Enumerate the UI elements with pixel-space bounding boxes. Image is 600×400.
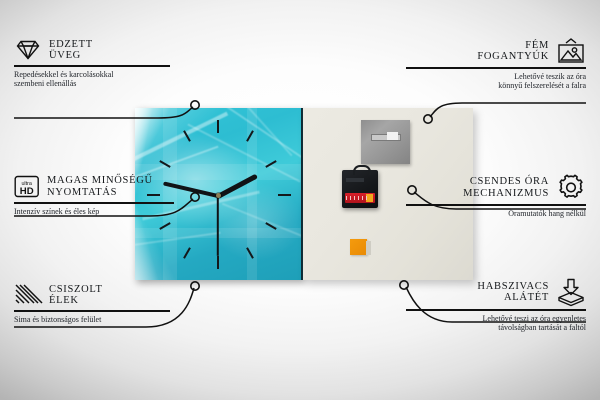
callout-description: Óramutatók hang nélkül [406, 209, 586, 219]
clock-tick [217, 120, 219, 133]
callout-divider [406, 204, 586, 206]
callout-divider [406, 309, 586, 311]
framed-picture-hanger-icon [556, 38, 586, 64]
callout-title: HABSZIVACS ALÁTÉT [477, 281, 549, 304]
callout-high-quality-print: ultra HD MAGAS MINŐSÉGŰ NYOMTATÁS Intenz… [14, 174, 174, 216]
connector-endpoint-edges [191, 282, 199, 290]
battery-label-lines [346, 196, 368, 200]
callout-header: HABSZIVACS ALÁTÉT [406, 278, 586, 306]
callout-title: CSISZOLT ÉLEK [49, 284, 103, 307]
badge-large-text: HD [20, 186, 34, 197]
gear-icon [556, 174, 586, 201]
clock-tick [278, 194, 291, 196]
callout-divider [14, 202, 174, 204]
callout-header: CSENDES ÓRA MECHANIZMUS [406, 174, 586, 201]
foam-pad-square [350, 239, 367, 255]
callout-metal-handles: FÉM FOGANTYÚK Lehetővé teszik az óra kön… [406, 38, 586, 91]
callout-silent-mechanism: CSENDES ÓRA MECHANIZMUS Óramutatók hang … [406, 174, 586, 218]
callout-description: Lehetővé teszi az óra egyenletes távolsá… [406, 314, 586, 333]
clock-center-cap [216, 193, 221, 198]
feather-streak [221, 108, 292, 156]
diamond-icon [14, 38, 42, 62]
callout-foam-pad: HABSZIVACS ALÁTÉT Lehetővé teszi az óra … [406, 278, 586, 333]
clock-tick [217, 256, 219, 269]
arrow-onto-pad-icon [556, 278, 586, 306]
mechanism-slot [346, 178, 364, 182]
callout-divider [14, 65, 170, 67]
callout-divider [406, 67, 586, 69]
callout-tempered-glass: EDZETT ÜVEG Repedésekkel és karcolásokka… [14, 38, 170, 89]
clock-tick [183, 247, 191, 258]
callout-description: Repedésekkel és karcolásokkal szembeni e… [14, 70, 170, 89]
callout-title: MAGAS MINŐSÉGŰ NYOMTATÁS [47, 175, 153, 198]
callout-header: FÉM FOGANTYÚK [406, 38, 586, 64]
second-hand [217, 196, 219, 256]
hanger-slot-highlight [387, 132, 398, 140]
ultra-hd-badge-icon: ultra HD [14, 174, 40, 199]
callout-title: FÉM FOGANTYÚK [477, 40, 549, 63]
callout-title: CSENDES ÓRA MECHANIZMUS [463, 176, 549, 199]
callout-title: EDZETT ÜVEG [49, 39, 93, 62]
hatched-triangle-icon [14, 283, 42, 307]
metal-hanger [361, 120, 410, 164]
clock-mechanism [342, 170, 378, 208]
callout-description: Intenzív színek és éles kép [14, 207, 174, 217]
mechanism-loop [353, 165, 371, 175]
callout-polished-edges: CSISZOLT ÉLEK Sima és biztonságos felüle… [14, 283, 170, 324]
callout-description: Sima és biztonságos felület [14, 315, 170, 325]
callout-header: EDZETT ÜVEG [14, 38, 170, 62]
callout-description: Lehetővé teszik az óra könnyű felszerelé… [406, 72, 586, 91]
callout-header: CSISZOLT ÉLEK [14, 283, 170, 307]
infographic-canvas: EDZETT ÜVEG Repedésekkel és karcolásokka… [0, 0, 600, 400]
callout-header: ultra HD MAGAS MINŐSÉGŰ NYOMTATÁS [14, 174, 174, 199]
foam-pad-side [366, 241, 371, 255]
callout-divider [14, 310, 170, 312]
